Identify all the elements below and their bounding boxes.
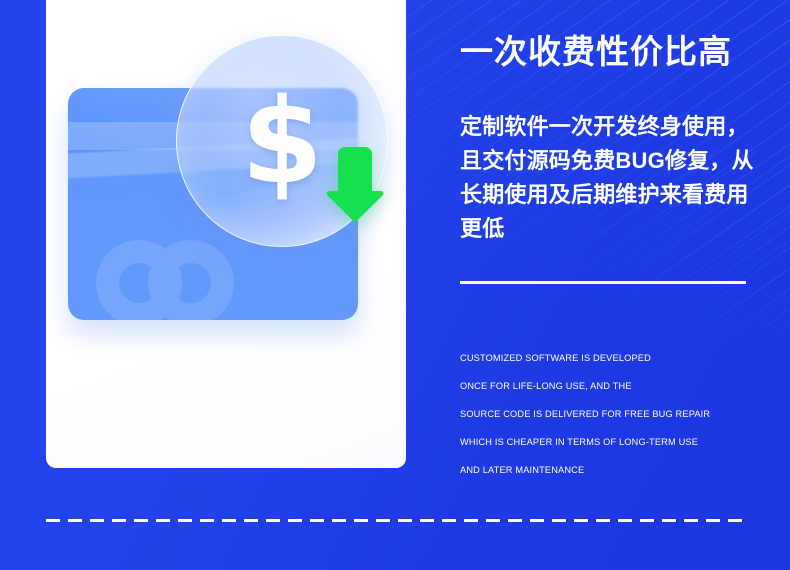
caption-line: WHICH IS CHEAPER IN TERMS OF LONG-TERM U…: [460, 429, 751, 457]
horizontal-divider: [460, 281, 746, 284]
caption-line: CUSTOMIZED SOFTWARE IS DEVELOPED: [460, 345, 751, 373]
caption-line: ONCE FOR LIFE-LONG USE, AND THE: [460, 373, 751, 401]
description-paragraph: 定制软件一次开发终身使用，且交付源码免费BUG修复，从长期使用及后期维护来看费用…: [460, 110, 756, 246]
illustration-panel: $: [46, 0, 406, 468]
bottom-dashed-rule: [46, 519, 746, 522]
text-column: 一次收费性价比高 定制软件一次开发终身使用，且交付源码免费BUG修复，从长期使用…: [460, 0, 760, 570]
english-caption-block: CUSTOMIZED SOFTWARE IS DEVELOPED ONCE FO…: [460, 345, 760, 485]
headline-title: 一次收费性价比高: [460, 32, 760, 72]
payment-illustration: $: [46, 0, 406, 468]
caption-line: AND LATER MAINTENANCE: [460, 457, 751, 485]
down-arrow-icon: [326, 145, 384, 225]
caption-line: SOURCE CODE IS DELIVERED FOR FREE BUG RE…: [460, 401, 751, 429]
